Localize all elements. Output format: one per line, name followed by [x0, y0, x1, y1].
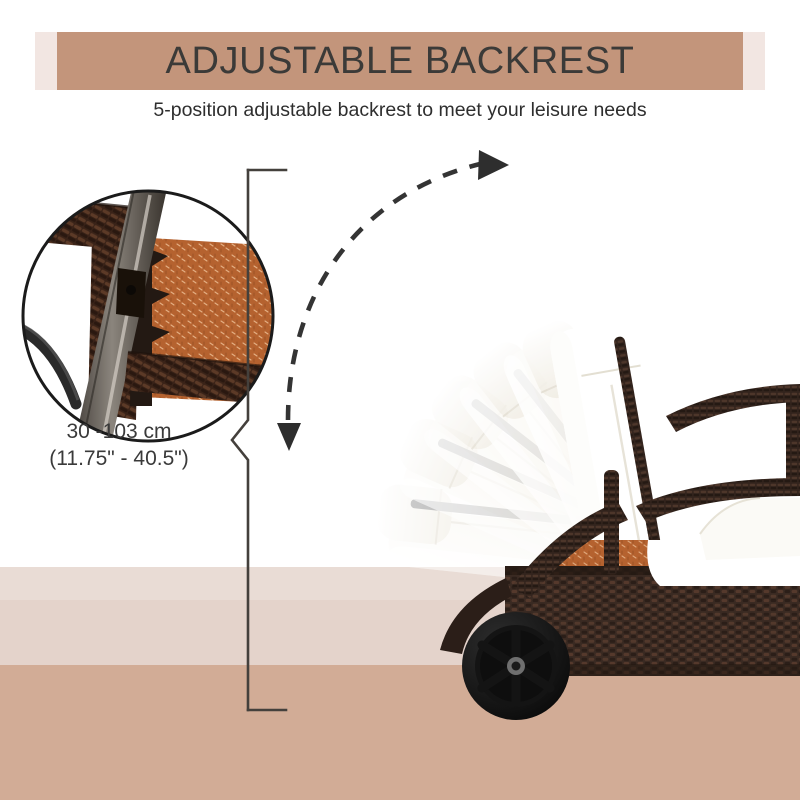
- infographic-canvas: ADJUSTABLE BACKREST 5-position adjustabl…: [0, 0, 800, 800]
- rotation-arc-arrow: [277, 150, 509, 451]
- page-title: ADJUSTABLE BACKREST: [35, 32, 765, 90]
- arc-arrowhead-top: [478, 150, 509, 180]
- arc-arrowhead-bottom: [277, 423, 301, 451]
- measurement-imperial: (11.75" - 40.5"): [8, 445, 230, 472]
- page-subtitle: 5-position adjustable backrest to meet y…: [0, 99, 800, 122]
- measurement-metric: 30 -103 cm: [8, 418, 230, 445]
- header-banner: ADJUSTABLE BACKREST: [35, 32, 765, 90]
- measurement-bracket: [232, 170, 286, 710]
- measurement-label: 30 -103 cm (11.75" - 40.5"): [8, 418, 230, 473]
